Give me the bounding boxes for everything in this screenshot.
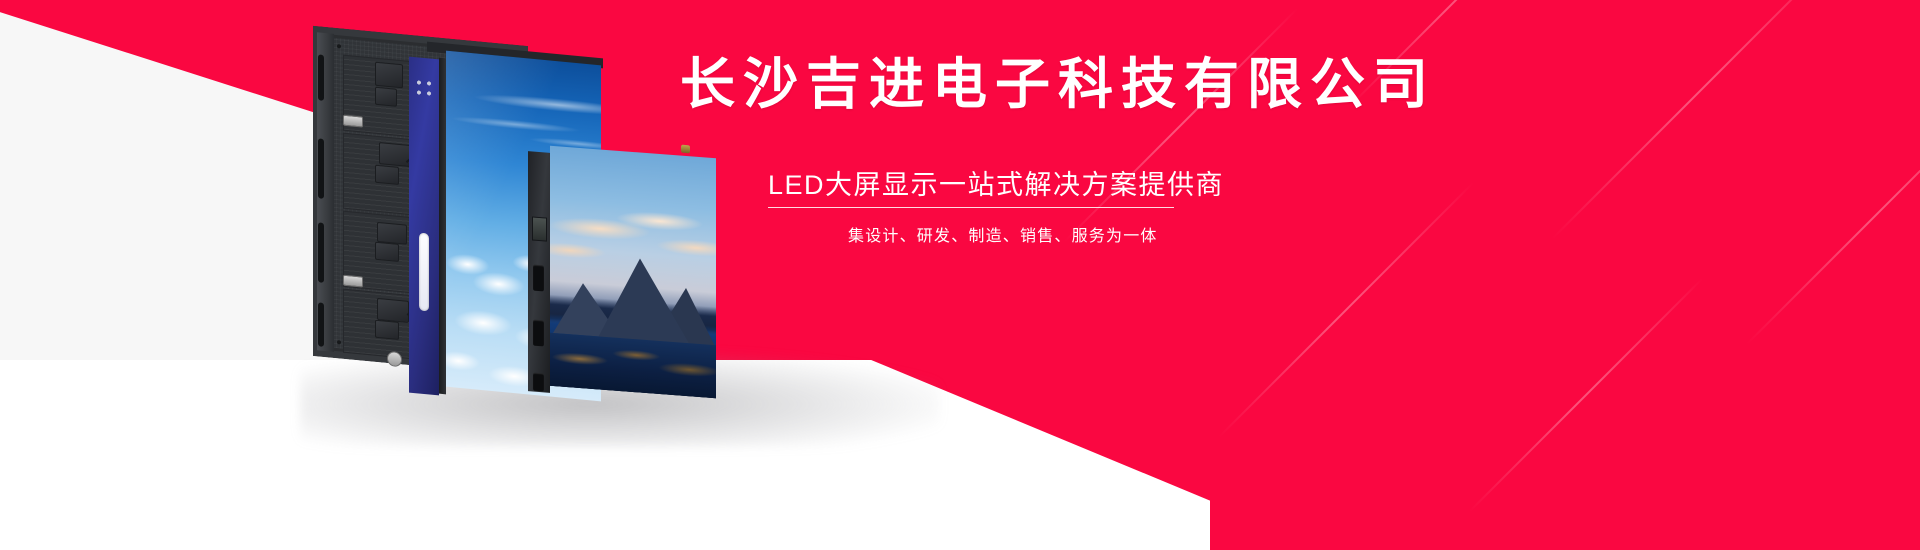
black-side-frame [528,151,550,393]
cabinet-vent-slot [318,302,324,347]
banner-subtitle: LED大屏显示一站式解决方案提供商 [768,163,1224,202]
banner-text-block: 长沙吉进电子科技有限公司 LED大屏显示一站式解决方案提供商 集设计、研发、制造… [680,0,1860,550]
receiving-card [375,87,397,107]
cabinet-vent-slot [318,222,324,283]
frame-edge [439,58,446,395]
connector-port [533,264,544,291]
status-display [532,216,547,241]
cable-gland [387,351,402,367]
hero-banner: 长沙吉进电子科技有限公司 LED大屏显示一站式解决方案提供商 集设计、研发、制造… [0,0,1920,550]
receiving-card [375,242,399,262]
cabinet-vent-slot [318,138,324,199]
power-connector [343,275,363,288]
connector-port [533,320,544,347]
power-supply-unit [377,222,407,245]
connector-port [533,372,544,391]
receiving-card [375,320,399,340]
company-title: 长沙吉进电子科技有限公司 [680,54,1436,115]
banner-tagline: 集设计、研发、制造、销售、服务为一体 [848,222,1158,246]
text-divider [768,207,1174,208]
mounting-hole [337,340,341,344]
frame-handle [419,232,429,311]
power-supply-unit [375,62,403,89]
mounting-hole [337,44,341,48]
frame-screws [416,79,433,98]
cabinet-vent-slot [318,54,324,101]
mountain-peak [596,255,692,348]
receiving-card [375,165,399,185]
power-connector [343,115,363,128]
blue-side-frame [409,57,439,396]
